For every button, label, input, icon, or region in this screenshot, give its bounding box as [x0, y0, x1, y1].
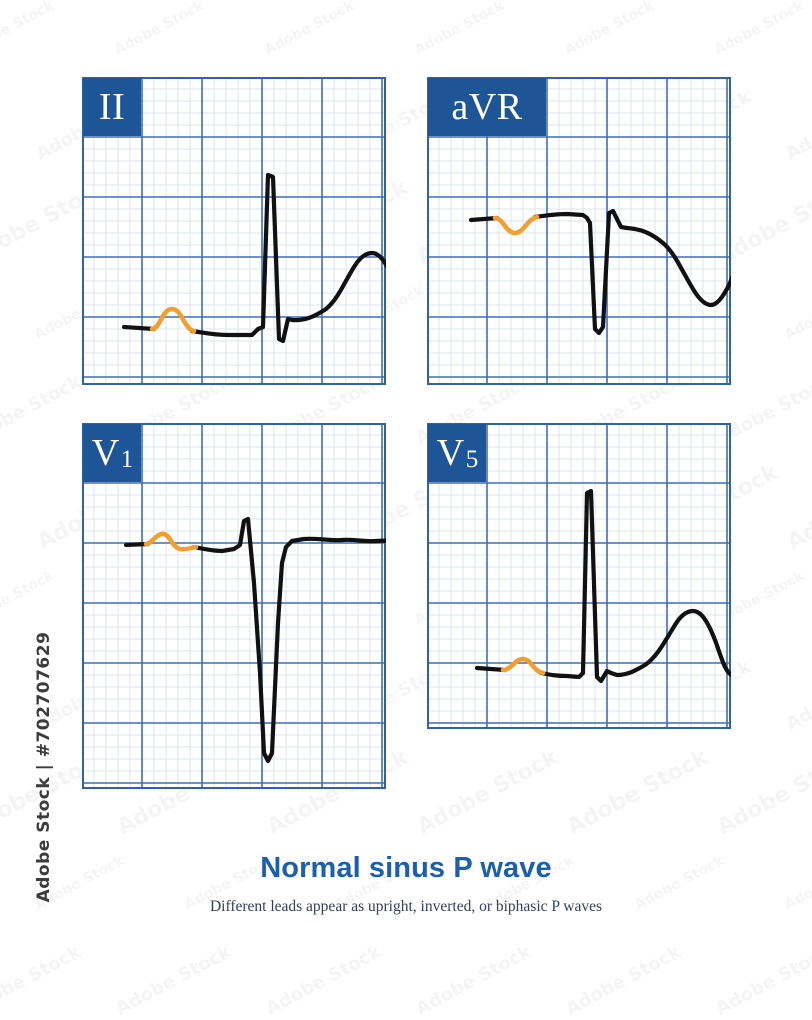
watermark-tile: Adobe Stock [563, 745, 712, 840]
ecg-qrst-segment [541, 491, 731, 681]
ecg-panel-lead-ii: II [82, 77, 386, 385]
watermark-tile: Adobe Stock [783, 86, 812, 164]
watermark-tile: Adobe Stock [263, 941, 385, 1019]
watermark-tile: Adobe Stock [783, 460, 812, 555]
lead-label-subscript: 1 [121, 447, 134, 472]
watermark-tile: Adobe Stock [112, 0, 207, 58]
ecg-qrst-segment [535, 211, 731, 333]
stock-watermark-label: Adobe Stock | #702707629 [34, 627, 54, 907]
watermark-tile: Adobe Stock [413, 941, 535, 1019]
ecg-panel-lead-v5: V5 [427, 423, 731, 729]
watermark-tile: Adobe Stock [113, 941, 235, 1019]
lead-label-subscript: 5 [466, 447, 479, 472]
ecg-figure: Adobe StockAdobe StockAdobe StockAdobe S… [0, 0, 812, 1000]
p-wave-highlight [495, 217, 537, 233]
ecg-panel-lead-avr: aVR [427, 77, 731, 385]
ecg-qrst-segment [192, 175, 386, 341]
watermark-tile: Adobe Stock [0, 568, 57, 629]
figure-title: Normal sinus P wave [0, 852, 812, 885]
watermark-tile: Adobe Stock [262, 0, 357, 58]
p-wave-highlight [146, 534, 196, 549]
watermark-tile: Adobe Stock [712, 0, 807, 58]
watermark-tile: Adobe Stock [563, 941, 685, 1019]
watermark-tile: Adobe Stock [783, 656, 812, 734]
lead-label-lead-v5: V5 [428, 424, 486, 482]
watermark-tile: Adobe Stock [713, 745, 812, 840]
watermark-tile: Adobe Stock [0, 941, 85, 1019]
lead-label-main: aVR [451, 88, 522, 126]
watermark-tile: Adobe Stock [562, 0, 657, 58]
lead-label-main: V [437, 434, 465, 472]
ecg-qrst-segment [194, 519, 386, 761]
watermark-tile: Adobe Stock [782, 283, 812, 344]
p-wave-highlight [503, 659, 543, 673]
lead-label-lead-v1: V1 [83, 424, 141, 482]
ecg-panel-lead-v1: V1 [82, 423, 386, 789]
watermark-tile: Adobe Stock [412, 0, 507, 58]
watermark-tile: Adobe Stock [0, 371, 85, 449]
lead-label-main: V [92, 434, 120, 472]
lead-label-lead-avr: aVR [428, 78, 546, 136]
watermark-tile: Adobe Stock [713, 941, 812, 1019]
watermark-tile: Adobe Stock [413, 745, 562, 840]
ecg-baseline-segment [124, 327, 154, 329]
figure-subtitle: Different leads appear as upright, inver… [0, 898, 812, 916]
watermark-tile: Adobe Stock [0, 0, 57, 58]
p-wave-highlight [152, 309, 194, 331]
lead-label-main: II [99, 88, 125, 126]
lead-label-lead-ii: II [83, 78, 141, 136]
